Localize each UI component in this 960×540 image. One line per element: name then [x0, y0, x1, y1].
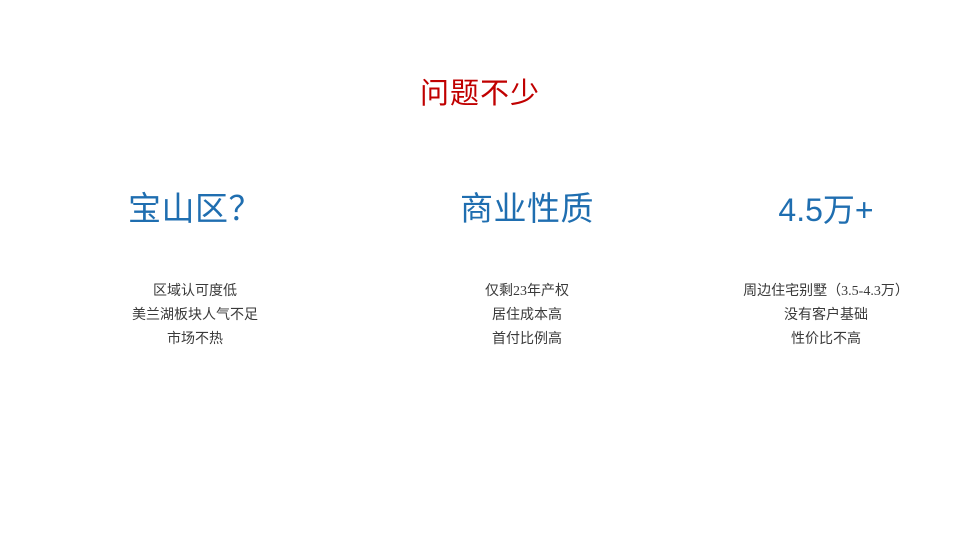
body-line: 仅剩23年产权: [382, 280, 672, 304]
body-line: 市场不热: [40, 328, 350, 352]
column-heading-2: 商业性质: [382, 186, 672, 234]
column-body-3: 周边住宅别墅（3.5-4.3万） 没有客户基础 性价比不高: [692, 280, 960, 352]
column-commercial: 商业性质 仅剩23年产权 居住成本高 首付比例高: [382, 186, 672, 352]
column-heading-1: 宝山区？: [40, 186, 350, 234]
column-heading-3: 4.5万+: [692, 186, 960, 234]
body-line: 美兰湖板块人气不足: [40, 304, 350, 328]
slide-canvas: 问题不少 宝山区？ 区域认可度低 美兰湖板块人气不足 市场不热 商业性质 仅剩2…: [0, 0, 960, 540]
column-price: 4.5万+ 周边住宅别墅（3.5-4.3万） 没有客户基础 性价比不高: [692, 186, 960, 352]
body-line: 性价比不高: [692, 328, 960, 352]
column-body-2: 仅剩23年产权 居住成本高 首付比例高: [382, 280, 672, 352]
page-title: 问题不少: [0, 74, 960, 114]
body-line: 没有客户基础: [692, 304, 960, 328]
body-line: 区域认可度低: [40, 280, 350, 304]
column-body-1: 区域认可度低 美兰湖板块人气不足 市场不热: [40, 280, 350, 352]
body-line: 居住成本高: [382, 304, 672, 328]
columns-container: 宝山区？ 区域认可度低 美兰湖板块人气不足 市场不热 商业性质 仅剩23年产权 …: [0, 186, 960, 352]
body-line: 首付比例高: [382, 328, 672, 352]
column-baoshan: 宝山区？ 区域认可度低 美兰湖板块人气不足 市场不热: [40, 186, 350, 352]
body-line: 周边住宅别墅（3.5-4.3万）: [692, 280, 960, 304]
